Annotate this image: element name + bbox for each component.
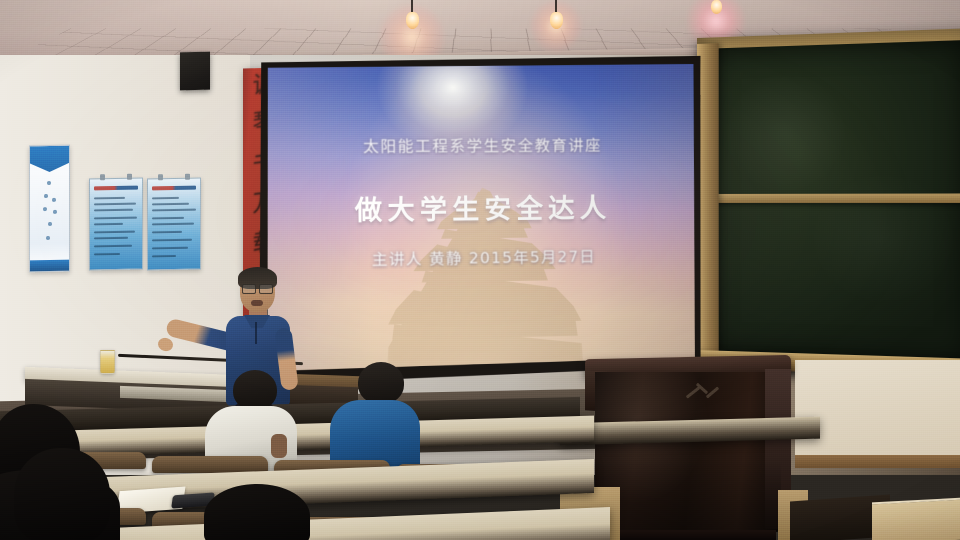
glasses-icon (242, 284, 273, 292)
student-foreground-left2-head (14, 448, 110, 540)
blackboard (697, 28, 960, 378)
slide-text-block: 太阳能工程系学生安全教育讲座 做大学生安全达人 主讲人 黄静 2015年5月27… (264, 63, 696, 371)
lectern-marking (685, 381, 725, 399)
poster-footer (30, 260, 69, 272)
right-wall (795, 360, 960, 465)
student-foreground-center-head (204, 484, 310, 540)
lamp-bulb (550, 12, 563, 29)
presenter-mouth (251, 300, 263, 306)
projected-slide: 太阳能工程系学生安全教育讲座 做大学生安全达人 主讲人 黄静 2015年5月27… (264, 63, 696, 371)
poster-title-bar (94, 186, 139, 191)
seat-back (152, 456, 268, 473)
lectern-base (601, 530, 776, 540)
presenter-shirt-placket (255, 322, 257, 344)
blackboard-divider-rail (707, 193, 960, 203)
slide-subtitle: 太阳能工程系学生安全教育讲座 (265, 134, 694, 157)
right-desk (872, 498, 960, 540)
projection-screen: 太阳能工程系学生安全教育讲座 做大学生安全达人 主讲人 黄静 2015年5月27… (256, 52, 704, 384)
lamp-bulb (406, 12, 419, 29)
lecture-hall-photo: 调 琴 书 万 载 时 花 太阳能工程系学生安全教育讲座 做大学生安全达人 主讲… (0, 0, 960, 540)
wall-speaker-box (180, 52, 210, 91)
poster-regulation-1 (89, 178, 143, 271)
poster-vertical-notice (29, 145, 70, 273)
poster-header (30, 146, 69, 173)
poster-title-bar (152, 186, 197, 191)
glass-of-tea (100, 350, 115, 374)
lamp-bulb (711, 0, 722, 14)
slide-title: 做大学生安全达人 (266, 187, 696, 229)
right-wall-rail (795, 455, 960, 468)
poster-regulation-2 (147, 178, 201, 271)
slide-presenter-line: 主讲人 黄静 2015年5月27日 (266, 244, 695, 271)
